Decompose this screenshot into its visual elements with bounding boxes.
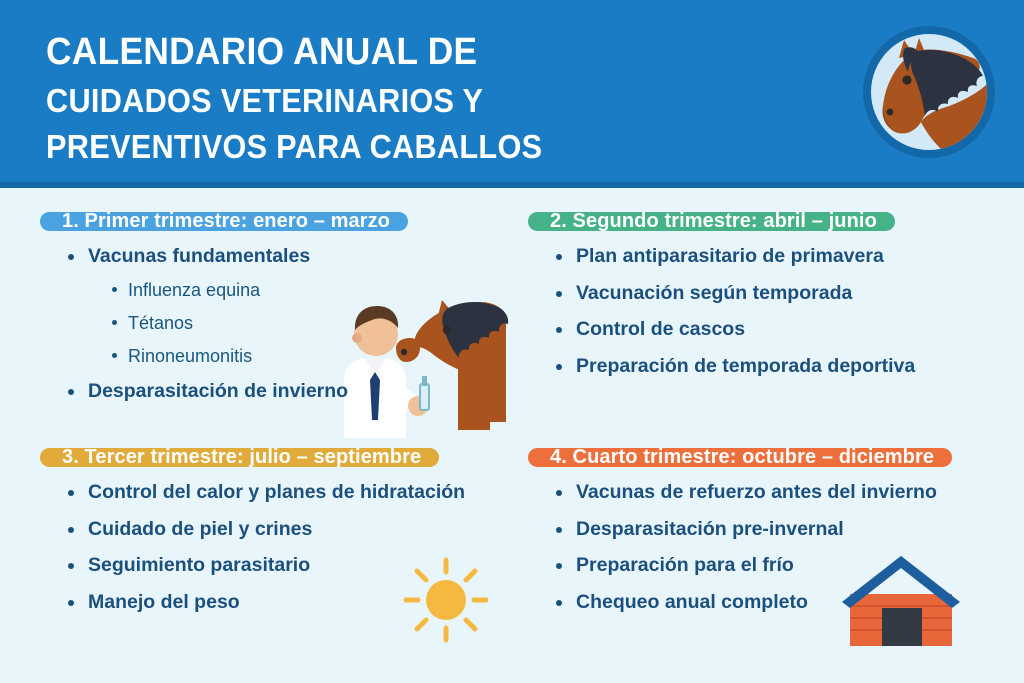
sub-list-item: Rinoneumonitis (110, 347, 520, 365)
header-underline (0, 182, 1024, 188)
page-title: CALENDARIO ANUAL DE CUIDADOS VETERINARIO… (46, 33, 686, 163)
list-item: Chequeo anual completo (554, 593, 1008, 613)
quarter-2-bar-wrap: 2. Segundo trimestre: abril – junio (528, 212, 1008, 231)
quarter-4-list: Vacunas de refuerzo antes del invierno D… (528, 483, 1008, 612)
title-line-3: PREVENTIVOS PARA CABALLOS (46, 130, 641, 163)
list-item: Control de cascos (554, 320, 1008, 340)
list-item: Vacunas fundamentales Influenza equina T… (66, 247, 520, 365)
list-item: Desparasitación pre-invernal (554, 520, 1008, 540)
horse-head-icon (861, 24, 997, 160)
quarter-1-sublist: Influenza equina Tétanos Rinoneumonitis (88, 281, 520, 365)
quarter-4-header-bar[interactable]: 4. Cuarto trimestre: octubre – diciembre (528, 448, 952, 467)
quarter-1-bar-wrap: 1. Primer trimestre: enero – marzo (40, 212, 520, 231)
title-line-1: CALENDARIO ANUAL DE (46, 33, 641, 71)
quarter-2-header-bar[interactable]: 2. Segundo trimestre: abril – junio (528, 212, 895, 231)
quarter-3-header-bar[interactable]: 3. Tercer trimestre: julio – septiembre (40, 448, 439, 467)
list-item: Vacunación según temporada (554, 284, 1008, 304)
quarter-1-list: Vacunas fundamentales Influenza equina T… (40, 247, 520, 401)
list-item: Cuidado de piel y crines (66, 520, 520, 540)
list-item: Plan antiparasitario de primavera (554, 247, 1008, 267)
list-item: Preparación para el frío (554, 556, 1008, 576)
horse-head-badge (861, 24, 997, 160)
sub-list-item: Tétanos (110, 314, 520, 332)
list-item: Desparasitación de invierno (66, 382, 520, 402)
list-item: Seguimiento parasitario (66, 556, 520, 576)
title-line-2: CUIDADOS VETERINARIOS Y (46, 84, 641, 117)
sub-list-item: Influenza equina (110, 281, 520, 299)
quarter-1-header-bar[interactable]: 1. Primer trimestre: enero – marzo (40, 212, 408, 231)
quarter-2-list: Plan antiparasitario de primavera Vacuna… (528, 247, 1008, 376)
quarter-3-bar-wrap: 3. Tercer trimestre: julio – septiembre (40, 448, 520, 467)
quarter-card-2: 2. Segundo trimestre: abril – junio Plan… (528, 212, 1008, 444)
list-item: Control del calor y planes de hidratació… (66, 483, 520, 503)
quarter-3-list: Control del calor y planes de hidratació… (40, 483, 520, 612)
list-item: Manejo del peso (66, 593, 520, 613)
quarter-4-bar-wrap: 4. Cuarto trimestre: octubre – diciembre (528, 448, 1008, 467)
list-item: Preparación de temporada deportiva (554, 357, 1008, 377)
list-item-label: Vacunas fundamentales (88, 245, 310, 267)
list-item: Vacunas de refuerzo antes del invierno (554, 483, 1008, 503)
